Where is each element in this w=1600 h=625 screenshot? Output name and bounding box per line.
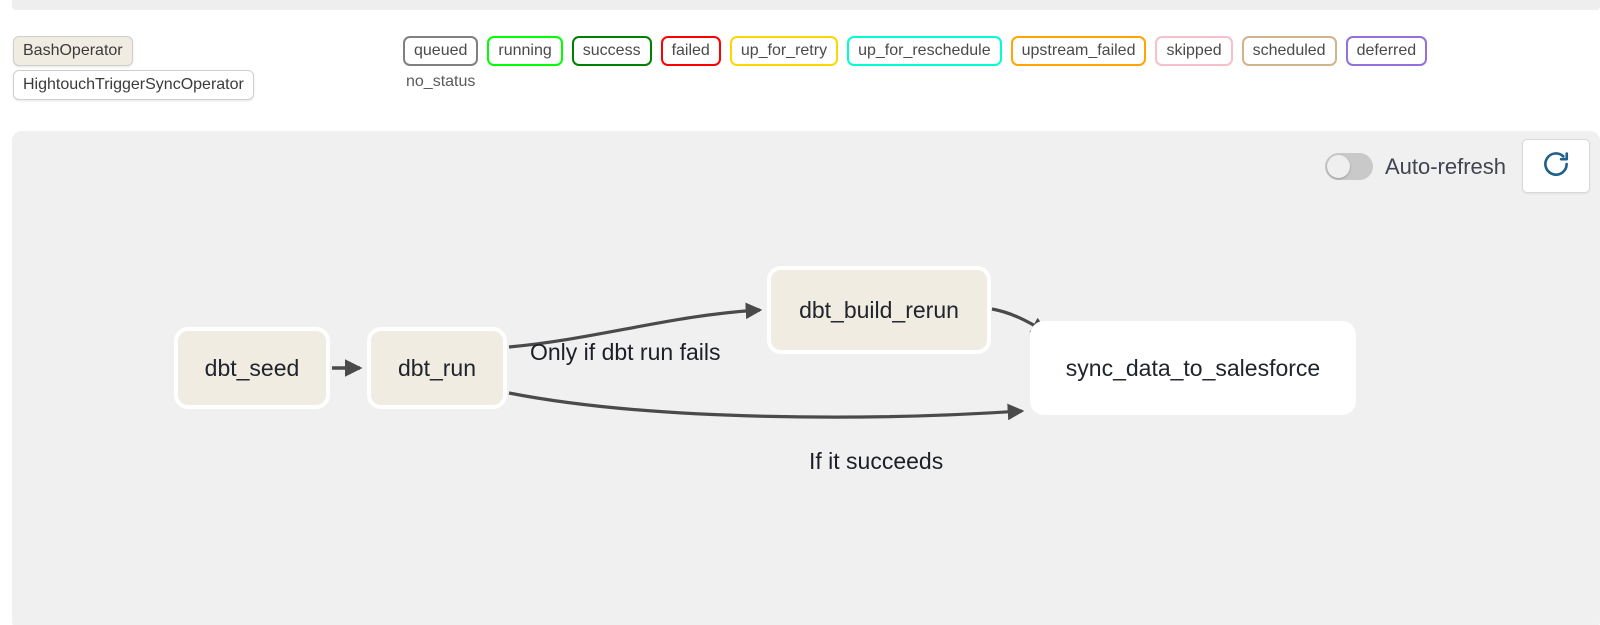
auto-refresh-control[interactable]: Auto-refresh [1325,153,1506,180]
refresh-icon [1541,149,1571,184]
status-legend-item-up-for-reschedule: up_for_reschedule [847,36,1002,66]
task-node-dbt-run[interactable]: dbt_run [367,327,507,409]
status-chip-success[interactable]: success [572,36,652,66]
status-legend-item-up-for-retry: up_for_retry [730,36,838,66]
status-legend: queued no_status running success failed … [403,36,1427,91]
top-strip [12,0,1600,10]
auto-refresh-toggle[interactable] [1325,153,1373,180]
status-legend-item-upstream-failed: upstream_failed [1011,36,1147,66]
status-legend-item-queued: queued no_status [403,36,478,91]
status-legend-item-scheduled: scheduled [1242,36,1337,66]
dag-graph-view: BashOperator HightouchTriggerSyncOperato… [0,0,1600,625]
auto-refresh-label: Auto-refresh [1385,154,1506,179]
edge-label-if-it-succeeds: If it succeeds [809,448,943,475]
status-chip-failed[interactable]: failed [661,36,721,66]
operator-chip-bashoperator[interactable]: BashOperator [13,36,133,66]
status-chip-running[interactable]: running [487,36,562,66]
operator-chip-hightouchtriggersyncoperator[interactable]: HightouchTriggerSyncOperator [13,70,254,100]
status-chip-up-for-retry[interactable]: up_for_retry [730,36,838,66]
operator-legend: BashOperator HightouchTriggerSyncOperato… [13,36,254,100]
legend-area: BashOperator HightouchTriggerSyncOperato… [0,10,1600,120]
toggle-knob [1327,155,1350,178]
graph-canvas[interactable]: Auto-refresh [12,131,1600,625]
status-chip-queued[interactable]: queued [403,36,478,66]
refresh-button[interactable] [1522,139,1590,193]
status-legend-item-deferred: deferred [1346,36,1428,66]
edge-dbt-run-to-sync-data-to-salesforce [509,393,1022,417]
task-node-label: dbt_seed [205,355,300,382]
status-chip-upstream-failed[interactable]: upstream_failed [1011,36,1147,66]
status-legend-item-success: success [572,36,652,66]
status-legend-item-running: running [487,36,562,66]
task-node-label: sync_data_to_salesforce [1066,355,1320,382]
status-legend-item-skipped: skipped [1155,36,1232,66]
status-chip-scheduled[interactable]: scheduled [1242,36,1337,66]
status-chip-deferred[interactable]: deferred [1346,36,1428,66]
task-node-dbt-build-rerun[interactable]: dbt_build_rerun [767,266,991,354]
status-chip-up-for-reschedule[interactable]: up_for_reschedule [847,36,1002,66]
status-legend-item-failed: failed [661,36,721,66]
task-node-sync-data-to-salesforce[interactable]: sync_data_to_salesforce [1030,321,1356,415]
status-sublabel-no-status: no_status [406,72,475,91]
task-node-label: dbt_run [398,355,476,382]
task-node-label: dbt_build_rerun [799,297,959,324]
status-chip-skipped[interactable]: skipped [1155,36,1232,66]
graph-controls: Auto-refresh [1325,139,1590,193]
task-node-dbt-seed[interactable]: dbt_seed [174,327,330,409]
edge-label-only-if-dbt-run-fails: Only if dbt run fails [530,339,720,366]
